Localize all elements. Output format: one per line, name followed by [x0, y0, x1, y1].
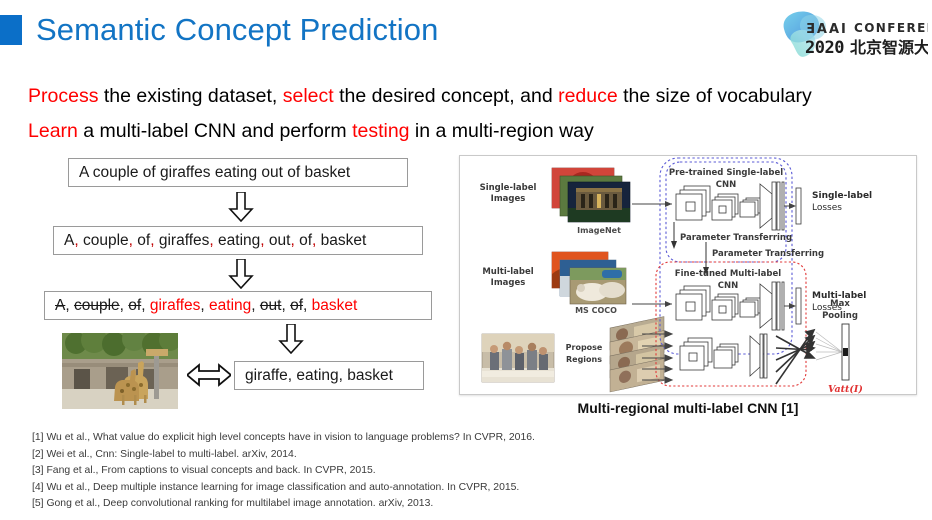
- diagram-label-pretrained: Pre-trained Single-label: [669, 168, 783, 178]
- reference-item-5: [5] Gong et al., Deep convolutional rank…: [32, 496, 922, 513]
- equivalence-arrow-icon: [187, 362, 231, 388]
- diagram-label-mscoco: MS COCO: [575, 306, 617, 315]
- svg-text:CONFERENCE: CONFERENCE: [854, 21, 928, 35]
- bullet-2-seg-2: a multi-label CNN and perform: [78, 120, 352, 142]
- bullet-2-word-testing: testing: [352, 120, 409, 142]
- reference-item-4: [4] Wu et al., Deep multiple instance le…: [32, 480, 922, 497]
- token-separator: ,: [209, 232, 218, 249]
- page-title: Semantic Concept Prediction: [36, 12, 438, 48]
- svg-text:ƎAAI: ƎAAI: [806, 22, 848, 37]
- token-separator: ,: [65, 297, 74, 314]
- token-separator: ,: [141, 297, 150, 314]
- bullet-2-word-learn: Learn: [28, 120, 78, 142]
- token: of: [299, 232, 312, 249]
- token: A: [64, 232, 74, 249]
- caption-box-tokenized-text: A, couple, of, giraffes, eating, out, of…: [54, 232, 366, 250]
- giraffe-photo: [62, 333, 178, 409]
- removed-token: A: [55, 297, 65, 314]
- diagram-label-single-losses-l1: Single-label: [812, 191, 872, 201]
- diagram-label-cnn2: CNN: [718, 281, 738, 291]
- kept-concept-token: giraffes: [150, 297, 201, 314]
- bullet-1-word-select: select: [283, 85, 334, 107]
- diagram-label-single-label-images-l2: Images: [491, 194, 526, 204]
- removed-token: of: [290, 297, 303, 314]
- architecture-diagram: Single-label Images Multi-label Images: [459, 155, 917, 395]
- bullet-1-word-reduce: reduce: [558, 85, 618, 107]
- diagram-label-regions: Regions: [566, 355, 602, 364]
- diagram-label-multi-label-images-l1: Multi-label: [482, 267, 533, 277]
- diagram-caption: Multi-regional multi-label CNN [1]: [459, 400, 917, 416]
- removed-token: out: [260, 297, 282, 314]
- down-arrow-2-icon: [228, 259, 254, 289]
- token-separator: ,: [290, 232, 299, 249]
- diagram-label-param-transfer-1: Parameter Transferring: [680, 233, 792, 243]
- token: basket: [321, 232, 367, 249]
- down-arrow-1-icon: [228, 192, 254, 222]
- reference-item-3: [3] Fang et al., From captions to visual…: [32, 463, 922, 480]
- token-separator: ,: [120, 297, 129, 314]
- down-arrow-3-icon: [278, 324, 304, 354]
- caption-box-original-text: A couple of giraffes eating out of baske…: [69, 164, 350, 182]
- diagram-label-max-pooling-l1: Max: [830, 299, 850, 309]
- token-separator: ,: [200, 297, 209, 314]
- token-separator: ,: [150, 232, 159, 249]
- token-separator: ,: [74, 232, 83, 249]
- diagram-label-param-transfer-2: Parameter Transferring: [712, 249, 824, 259]
- token: couple: [83, 232, 129, 249]
- token-separator: ,: [251, 297, 260, 314]
- removed-token: of: [128, 297, 141, 314]
- kept-concept-token: basket: [312, 297, 358, 314]
- token-separator: ,: [303, 297, 312, 314]
- diagram-label-finetuned: Fine-tuned Multi-label: [675, 269, 781, 279]
- diagram-label-single-label-images-l1: Single-label: [480, 183, 537, 193]
- bullet-2-seg-4: in a multi-region way: [410, 120, 594, 142]
- bullet-1-seg-2: the existing dataset,: [98, 85, 282, 107]
- reference-item-1: [1] Wu et al., What value do explicit hi…: [32, 430, 922, 447]
- svg-text:北京智源大会: 北京智源大会: [850, 38, 928, 57]
- diagram-label-single-losses-l2: Losses: [812, 203, 842, 213]
- caption-box-filtered: A, couple, of, giraffes, eating, out, of…: [44, 291, 432, 320]
- bullet-line-1: Process the existing dataset, select the…: [28, 85, 812, 108]
- bullet-line-2: Learn a multi-label CNN and perform test…: [28, 120, 594, 143]
- caption-box-original: A couple of giraffes eating out of baske…: [68, 158, 408, 187]
- token-separator: ,: [281, 297, 290, 314]
- token: out: [269, 232, 291, 249]
- bullet-1-seg-6: the size of vocabulary: [618, 85, 812, 107]
- baai-conference-logo: ƎAAI CONFERENCE 2020 北京智源大会: [778, 7, 928, 65]
- token-separator: ,: [312, 232, 321, 249]
- slide-canvas: Semantic Concept Prediction ƎAAI CONFERE…: [0, 0, 932, 520]
- caption-box-concepts-text: giraffe, eating, basket: [235, 367, 393, 385]
- diagram-label-cnn1: CNN: [716, 180, 736, 190]
- title-bullet-square: [0, 15, 22, 45]
- references-list: [1] Wu et al., What value do explicit hi…: [32, 430, 922, 513]
- caption-box-tokenized: A, couple, of, giraffes, eating, out, of…: [53, 226, 423, 255]
- diagram-label-imagenet: ImageNet: [577, 226, 621, 235]
- kept-concept-token: eating: [209, 297, 251, 314]
- svg-text:2020: 2020: [805, 38, 844, 58]
- diagram-label-propose: Propose: [566, 343, 603, 352]
- token: giraffes: [159, 232, 210, 249]
- caption-box-concepts: giraffe, eating, basket: [234, 361, 424, 390]
- token-separator: ,: [260, 232, 269, 249]
- bullet-1-seg-4: the desired concept, and: [334, 85, 558, 107]
- reference-item-2: [2] Wei et al., Cnn: Single-label to mul…: [32, 447, 922, 464]
- diagram-label-max-pooling-l2: Pooling: [822, 311, 858, 321]
- bullet-1-word-process: Process: [28, 85, 98, 107]
- diagram-label-multi-label-images-l2: Images: [491, 278, 526, 288]
- token-separator: ,: [129, 232, 138, 249]
- token: of: [137, 232, 150, 249]
- removed-token: couple: [74, 297, 120, 314]
- caption-box-filtered-text: A, couple, of, giraffes, eating, out, of…: [45, 297, 357, 315]
- diagram-label-vatt: Vatt(I): [828, 384, 863, 394]
- token: eating: [218, 232, 260, 249]
